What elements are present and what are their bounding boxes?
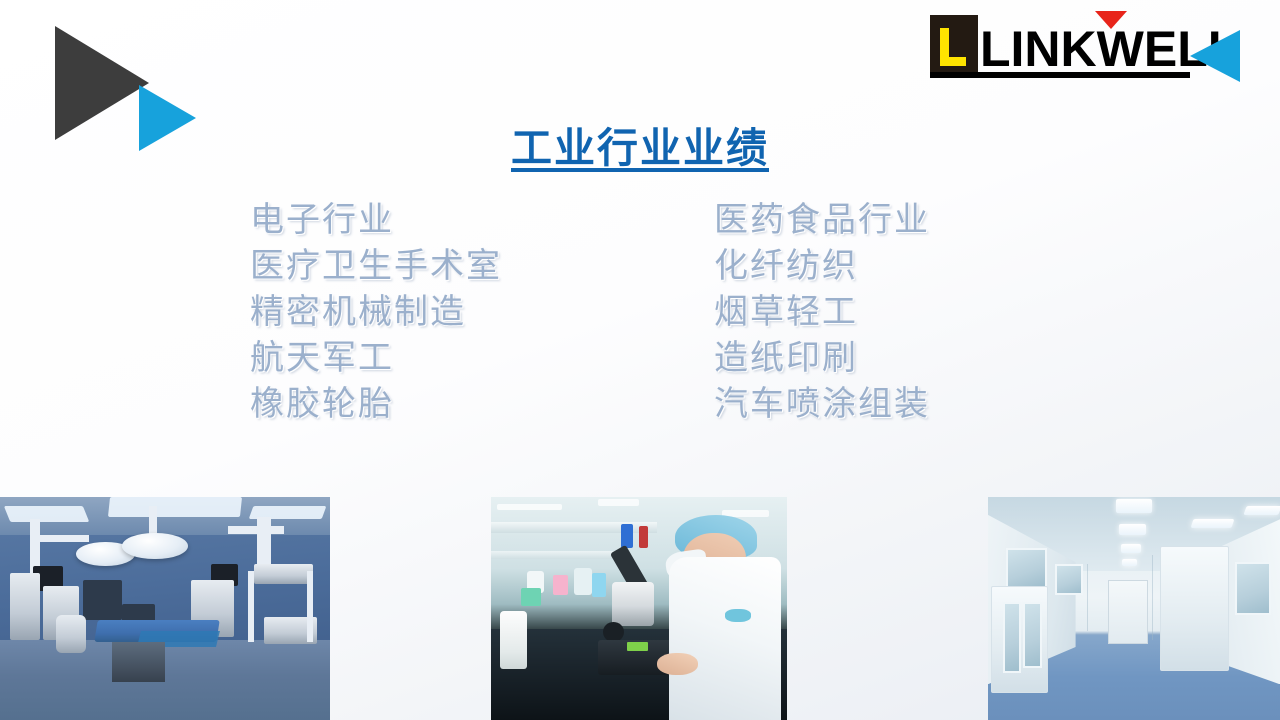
industry-item: 航天军工 bbox=[250, 335, 502, 381]
industry-item: 橡胶轮胎 bbox=[250, 381, 502, 427]
presentation-slide: LINKWELL 工业行业业绩 电子行业 医疗卫生手术室 精密机械制造 航天军工… bbox=[0, 0, 1280, 720]
laboratory-microscope-photo bbox=[491, 497, 787, 720]
industry-item: 烟草轻工 bbox=[714, 289, 930, 335]
industry-column-left: 电子行业 医疗卫生手术室 精密机械制造 航天军工 橡胶轮胎 bbox=[250, 197, 502, 427]
linkwell-logo: LINKWELL bbox=[928, 10, 1248, 90]
logo-cyan-triangle-icon bbox=[1190, 30, 1240, 82]
operating-room-photo bbox=[0, 497, 330, 720]
industry-item: 医疗卫生手术室 bbox=[250, 243, 502, 289]
industry-item: 造纸印刷 bbox=[714, 335, 930, 381]
industry-column-right: 医药食品行业 化纤纺织 烟草轻工 造纸印刷 汽车喷涂组装 bbox=[714, 197, 930, 427]
industry-item: 医药食品行业 bbox=[714, 197, 930, 243]
industry-item: 化纤纺织 bbox=[714, 243, 930, 289]
industry-item: 汽车喷涂组装 bbox=[714, 381, 930, 427]
logo-underbar bbox=[930, 72, 1190, 78]
industry-item: 电子行业 bbox=[250, 197, 502, 243]
industry-item: 精密机械制造 bbox=[250, 289, 502, 335]
slide-title: 工业行业业绩 bbox=[0, 114, 1280, 174]
cleanroom-corridor-photo bbox=[988, 497, 1280, 720]
logo-yellow-l-icon bbox=[940, 28, 966, 66]
